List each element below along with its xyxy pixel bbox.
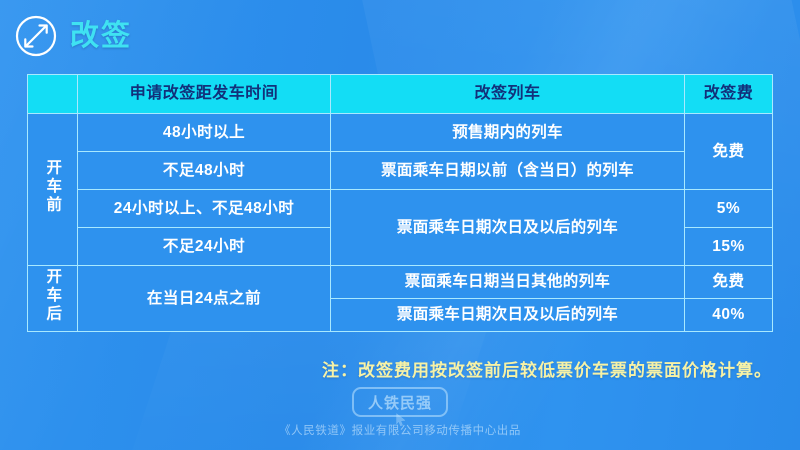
- table-row: 开车前 48小时以上 预售期内的列车 免费: [28, 114, 773, 152]
- fee-table-wrapper: 申请改签距发车时间 改签列车 改签费 开车前 48小时以上 预售期内的列车 免费…: [27, 74, 772, 332]
- table-row: 24小时以上、不足48小时 票面乘车日期次日及以后的列车 5%: [28, 190, 773, 228]
- cursor-arrow-icon: [396, 413, 406, 426]
- cell-when-before-midnight: 在当日24点之前: [78, 266, 331, 332]
- cell-fee-5-percent: 5%: [685, 190, 773, 228]
- cell-fee-15-percent: 15%: [685, 228, 773, 266]
- table-row: 开车后 在当日24点之前 票面乘车日期当日其他的列车 免费: [28, 266, 773, 299]
- cell-train-next-day-after: 票面乘车日期次日及以后的列车: [331, 298, 685, 331]
- cell-when-under-48h: 不足48小时: [78, 152, 331, 190]
- cell-fee-free-before: 免费: [685, 114, 773, 190]
- footnote: 注：改签费用按改签前后较低票价车票的票面价格计算。: [0, 356, 772, 381]
- cell-train-before-or-same-day: 票面乘车日期以前（含当日）的列车: [331, 152, 685, 190]
- exchange-circle-icon: [14, 14, 58, 58]
- table-row: 不足48小时 票面乘车日期以前（含当日）的列车: [28, 152, 773, 190]
- cell-fee-free-after: 免费: [685, 266, 773, 299]
- column-header-blank: [28, 75, 78, 114]
- header: 改签: [14, 12, 132, 60]
- column-header-fee: 改签费: [685, 75, 773, 114]
- cell-train-same-day-other: 票面乘车日期当日其他的列车: [331, 266, 685, 299]
- page-title: 改签: [70, 22, 132, 51]
- column-header-target-train: 改签列车: [331, 75, 685, 114]
- cell-fee-40-percent: 40%: [685, 298, 773, 331]
- column-header-apply-time: 申请改签距发车时间: [78, 75, 331, 114]
- watermark-logo: 人铁民强: [352, 387, 448, 417]
- change-ticket-fee-table: 申请改签距发车时间 改签列车 改签费 开车前 48小时以上 预售期内的列车 免费…: [27, 74, 773, 332]
- group-label-before-departure-text: 开车前: [43, 159, 62, 215]
- group-label-before-departure: 开车前: [28, 114, 78, 266]
- footer-watermark: 人铁民强 《人民铁道》报业有限公司移动传播中心出品: [0, 387, 800, 438]
- group-label-after-departure: 开车后: [28, 266, 78, 332]
- cell-train-presale-period: 预售期内的列车: [331, 114, 685, 152]
- watermark-logo-text: 人铁民强: [368, 392, 432, 413]
- poster-canvas: 改签 申请改签距发车时间 改签列车 改签费 开车前: [0, 0, 800, 450]
- cell-when-24-to-48h: 24小时以上、不足48小时: [78, 190, 331, 228]
- cell-when-under-24h: 不足24小时: [78, 228, 331, 266]
- group-label-after-departure-text: 开车后: [43, 268, 62, 324]
- cell-train-next-day-before: 票面乘车日期次日及以后的列车: [331, 190, 685, 266]
- cell-when-over-48h: 48小时以上: [78, 114, 331, 152]
- table-header-row: 申请改签距发车时间 改签列车 改签费: [28, 75, 773, 114]
